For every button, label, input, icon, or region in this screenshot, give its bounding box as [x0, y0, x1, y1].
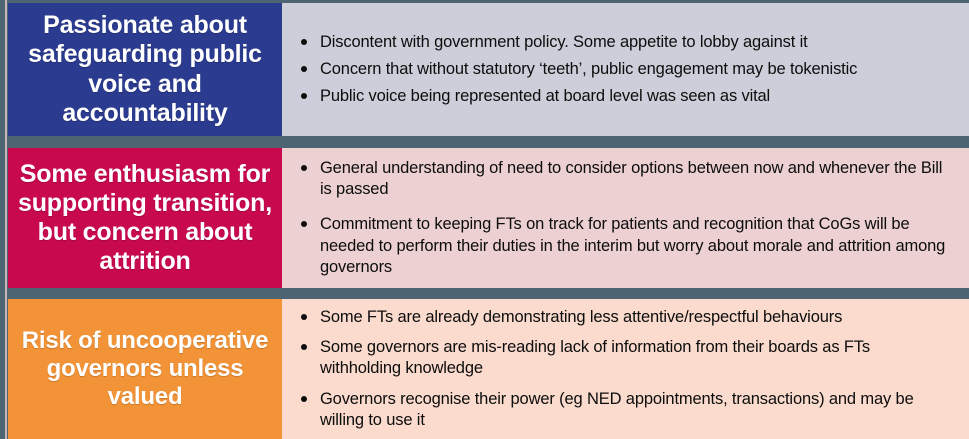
list-item: Some governors are mis-reading lack of i…	[296, 337, 955, 380]
row-transition-label-block: Some enthusiasm for supporting transitio…	[8, 148, 282, 288]
row-passionate-bullet-list: Discontent with government policy. Some …	[296, 32, 955, 108]
slide-canvas: Passionate about safeguarding public voi…	[0, 0, 969, 439]
list-item: Concern that without statutory ‘teeth’, …	[296, 59, 955, 80]
list-item: Commitment to keeping FTs on track for p…	[296, 214, 955, 278]
row-uncooperative-content: Some FTs are already demonstrating less …	[282, 299, 969, 439]
row-passionate: Passionate about safeguarding public voi…	[8, 3, 969, 136]
list-item: Some FTs are already demonstrating less …	[296, 307, 955, 328]
list-item: Discontent with government policy. Some …	[296, 32, 955, 53]
left-edge-rule	[5, 0, 7, 439]
list-item: Public voice being represented at board …	[296, 86, 955, 107]
row-transition-content: General understanding of need to conside…	[282, 148, 969, 288]
row-uncooperative-bullet-list: Some FTs are already demonstrating less …	[296, 307, 955, 431]
row-uncooperative: Risk of uncooperative governors unless v…	[8, 299, 969, 439]
row-uncooperative-label-block: Risk of uncooperative governors unless v…	[8, 299, 282, 439]
row-passionate-label: Passionate about safeguarding public voi…	[16, 11, 274, 128]
row-uncooperative-label: Risk of uncooperative governors unless v…	[16, 327, 274, 411]
list-item: Governors recognise their power (eg NED …	[296, 389, 955, 432]
row-passionate-content: Discontent with government policy. Some …	[282, 3, 969, 136]
row-transition: Some enthusiasm for supporting transitio…	[8, 148, 969, 288]
row-passionate-label-block: Passionate about safeguarding public voi…	[8, 3, 282, 136]
list-item: General understanding of need to conside…	[296, 158, 955, 201]
row-transition-bullet-list: General understanding of need to conside…	[296, 158, 955, 278]
row-transition-label: Some enthusiasm for supporting transitio…	[16, 160, 274, 277]
